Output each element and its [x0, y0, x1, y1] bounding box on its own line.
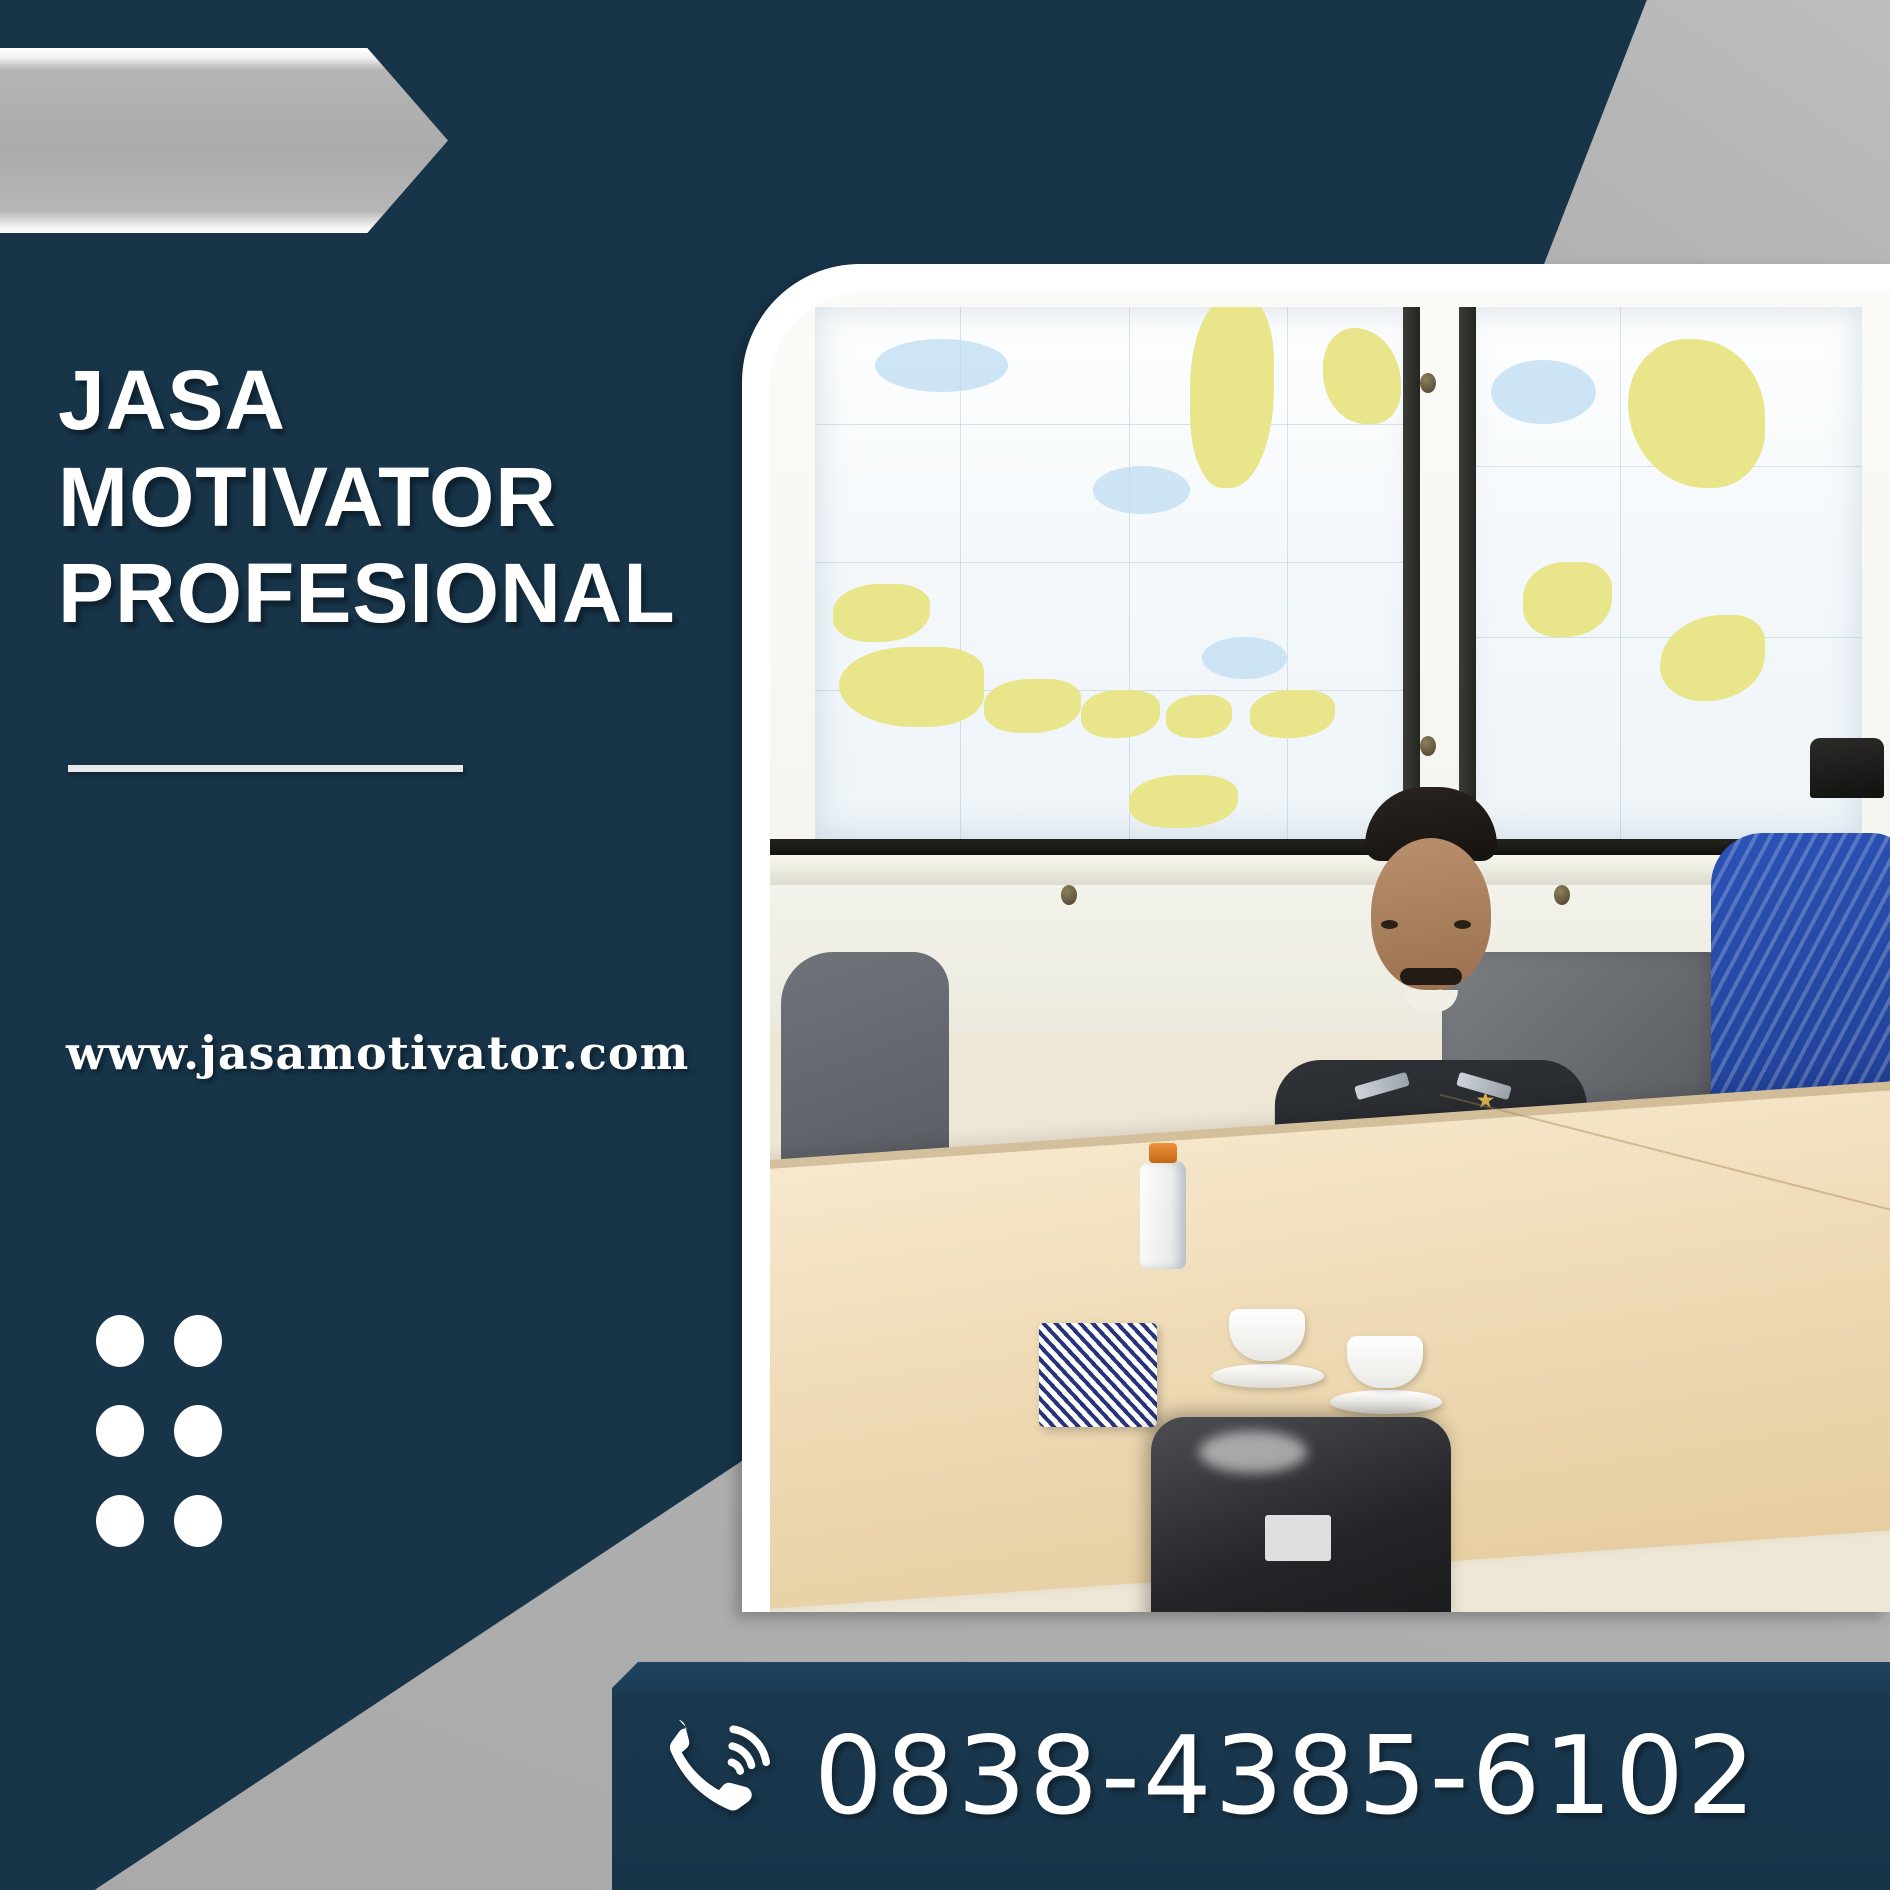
- photo-frame: [742, 264, 1890, 1612]
- saucer-left: [1212, 1364, 1324, 1388]
- headline-line-3: PROFESIONAL: [58, 545, 758, 642]
- saucer-right: [1330, 1390, 1442, 1414]
- dot: [174, 1315, 222, 1367]
- dots-decoration: [96, 1315, 230, 1557]
- meeting-photo: [770, 292, 1890, 1612]
- contact-bar: 0838-4385-6102: [612, 1662, 1890, 1890]
- dot: [96, 1495, 144, 1547]
- dot: [174, 1495, 222, 1547]
- laptop: [1151, 1417, 1451, 1612]
- water-bottle: [1140, 1161, 1186, 1269]
- map-poster-right: [1459, 307, 1862, 839]
- poster-canvas: JASA MOTIVATOR PROFESIONAL www.jasamotiv…: [0, 0, 1890, 1890]
- phone-number[interactable]: 0838-4385-6102: [814, 1714, 1759, 1839]
- phone-ringing-icon: [656, 1715, 778, 1837]
- dot: [96, 1315, 144, 1367]
- headline-line-2: MOTIVATOR: [58, 449, 758, 546]
- website-url[interactable]: www.jasamotivator.com: [66, 1026, 689, 1080]
- dot: [174, 1405, 222, 1457]
- dot: [96, 1405, 144, 1457]
- tissue-box: [1039, 1323, 1157, 1427]
- headline-line-1: JASA: [58, 352, 758, 449]
- page-title: JASA MOTIVATOR PROFESIONAL: [58, 352, 758, 642]
- headline-divider: [68, 765, 463, 772]
- map-poster-left: [815, 307, 1420, 839]
- arrow-banner: [0, 48, 448, 233]
